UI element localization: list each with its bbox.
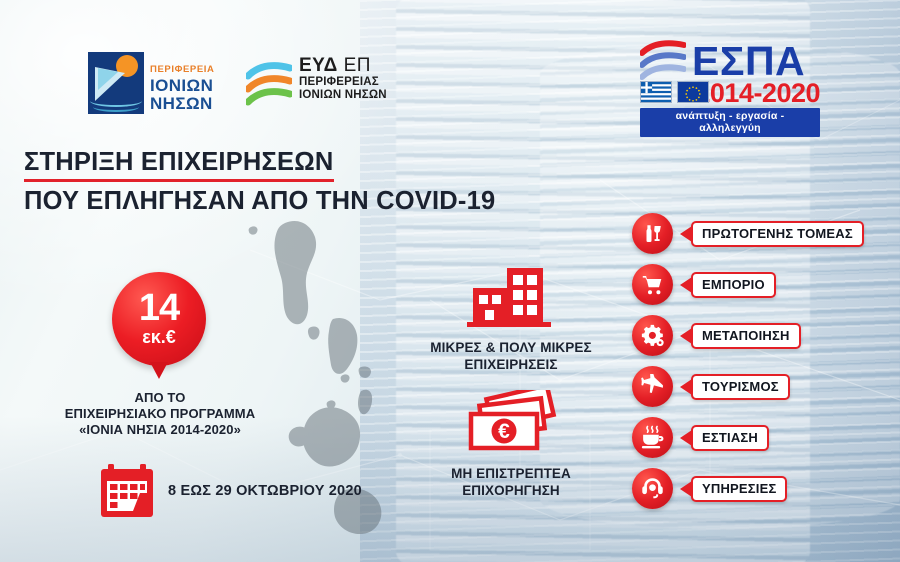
- infographic-poster: ΠΕΡΙΦΕΡΕΙΑ ΙΟΝΙΩΝ ΝΗΣΩΝ ΕΥΔ ΕΠ ΠΕΡΙΦΕΡΕΙ…: [0, 0, 900, 562]
- eyd-logo-line2: ΠΕΡΙΦΕΡΕΙΑΣ: [299, 77, 387, 89]
- region-logo-line3: ΝΗΣΩΝ: [150, 95, 214, 112]
- coffee-cup-icon: [632, 417, 673, 458]
- feature-sme-label-line2: ΕΠΙΧΕΙΡΗΣΕΙΣ: [396, 357, 626, 374]
- amount-unit: εκ.€: [142, 328, 176, 346]
- amount-block: 14 εκ.€ ΑΠΟ ΤΟ ΕΠΙΧΕΙΡΗΣΙΑΚΟ ΠΡΟΓΡΑΜΜΑ «…: [112, 272, 212, 366]
- amount-caption-line2: ΕΠΙΧΕΙΡΗΣΙΑΚΟ ΠΡΟΓΡΑΜΜΑ: [24, 406, 296, 422]
- feature-grant-icon-wrap: €: [396, 390, 626, 456]
- sector-label-manufacturing[interactable]: ΜΕΤΑΠΟΙΗΣΗ: [691, 323, 801, 349]
- espa-wordmark: ΕΣΠΑ: [692, 43, 805, 80]
- amount-caption-line1: ΑΠΟ ΤΟ: [24, 390, 296, 406]
- feature-sme-icon-wrap: [396, 264, 626, 330]
- date-text: 8 ΕΩΣ 29 ΟΚΤΩΒΡΙΟΥ 2020: [168, 483, 362, 499]
- amount-badge: 14 εκ.€: [112, 272, 206, 366]
- sector-label-tourism[interactable]: ΤΟΥΡΙΣΜΟΣ: [691, 374, 790, 400]
- espa-wordmark-row: ΕΣΠΑ: [640, 40, 820, 82]
- bottle-glass-icon: [632, 213, 673, 254]
- eu-flag-icon: [677, 81, 709, 103]
- wave-secondary-icon: [93, 102, 139, 112]
- buildings-icon: [463, 266, 559, 330]
- eyd-ep-logo: ΕΥΔ ΕΠ ΠΕΡΙΦΕΡΕΙΑΣ ΙΟΝΙΩΝ ΝΗΣΩΝ: [246, 56, 387, 108]
- feature-grant-label: ΜΗ ΕΠΙΣΤΡΕΠΤΕΑ ΕΠΙΧΟΡΗΓΗΣΗ: [396, 466, 626, 500]
- sector-item-food-service[interactable]: ΕΣΤΙΑΣΗ: [632, 416, 864, 459]
- feature-sme: ΜΙΚΡΕΣ & ΠΟΛΥ ΜΙΚΡΕΣ ΕΠΙΧΕΙΡΗΣΕΙΣ: [396, 264, 626, 374]
- eyd-logo-line1-bold: ΕΥΔ: [299, 55, 338, 76]
- feature-grant: € ΜΗ ΕΠΙΣΤΡΕΠΤΕΑ ΕΠΙΧΟΡΗΓΗΣΗ: [396, 390, 626, 500]
- region-logo-line1: ΠΕΡΙΦΕΡΕΙΑ: [150, 65, 214, 75]
- espa-slogan-banner: ανάπτυξη - εργασία - αλληλεγγύη: [640, 108, 820, 137]
- shopping-cart-icon: [632, 264, 673, 305]
- eyd-stripes-icon: [246, 60, 292, 108]
- sector-item-services[interactable]: ΥΠΗΡΕΣΙΕΣ: [632, 467, 864, 510]
- sail-inner-icon: [98, 68, 118, 90]
- eyd-logo-line3: ΙΟΝΙΩΝ ΝΗΣΩΝ: [299, 90, 387, 102]
- sector-item-tourism[interactable]: ΤΟΥΡΙΣΜΟΣ: [632, 365, 864, 408]
- headset-icon: [632, 468, 673, 509]
- espa-logo: ΕΣΠΑ 2014-2020: [640, 40, 820, 137]
- greek-flag-icon: [640, 81, 672, 103]
- region-logo-line2: ΙΟΝΙΩΝ: [150, 77, 214, 94]
- svg-text:€: €: [498, 420, 510, 443]
- sector-item-commerce[interactable]: ΕΜΠΟΡΙΟ: [632, 263, 864, 306]
- perifereia-ionion-nison-logo: ΠΕΡΙΦΕΡΕΙΑ ΙΟΝΙΩΝ ΝΗΣΩΝ: [88, 52, 214, 114]
- banknotes-euro-icon: €: [459, 390, 563, 456]
- amount-caption: ΑΠΟ ΤΟ ΕΠΙΧΕΙΡΗΣΙΑΚΟ ΠΡΟΓΡΑΜΜΑ «ΙΟΝΙΑ ΝΗ…: [24, 390, 296, 438]
- sector-label-primary[interactable]: ΠΡΩΤΟΓΕΝΗΣ ΤΟΜΕΑΣ: [691, 221, 864, 247]
- eyd-logo-text: ΕΥΔ ΕΠ ΠΕΡΙΦΕΡΕΙΑΣ ΙΟΝΙΩΝ ΝΗΣΩΝ: [299, 56, 387, 102]
- eyd-logo-line1-thin: ΕΠ: [344, 55, 371, 76]
- headline: ΣΤΗΡΙΞΗ ΕΠΙΧΕΙΡΗΣΕΩΝ ΠΟΥ ΕΠΛΗΓΗΣΑΝ ΑΠΟ Τ…: [24, 148, 495, 216]
- sector-item-primary[interactable]: ΠΡΩΤΟΓΕΝΗΣ ΤΟΜΕΑΣ: [632, 212, 864, 255]
- feature-grant-label-line1: ΜΗ ΕΠΙΣΤΡΕΠΤΕΑ: [396, 466, 626, 483]
- date-block: 8 ΕΩΣ 29 ΟΚΤΩΒΡΙΟΥ 2020: [98, 462, 362, 520]
- feature-sme-label: ΜΙΚΡΕΣ & ΠΟΛΥ ΜΙΚΡΕΣ ΕΠΙΧΕΙΡΗΣΕΙΣ: [396, 340, 626, 374]
- headline-line1: ΣΤΗΡΙΞΗ ΕΠΙΧΕΙΡΗΣΕΩΝ: [24, 148, 334, 182]
- airplane-icon: [632, 366, 673, 407]
- espa-stripes-icon: [640, 40, 686, 82]
- amount-caption-line3: «ΙΟΝΙΑ ΝΗΣΙΑ 2014-2020»: [24, 422, 296, 438]
- sector-item-manufacturing[interactable]: ΜΕΤΑΠΟΙΗΣΗ: [632, 314, 864, 357]
- amount-value: 14: [139, 292, 179, 325]
- region-logo-text: ΠΕΡΙΦΕΡΕΙΑ ΙΟΝΙΩΝ ΝΗΣΩΝ: [150, 52, 214, 112]
- eyd-logo-line1: ΕΥΔ ΕΠ: [299, 56, 387, 75]
- calendar-icon: [98, 462, 156, 520]
- gears-icon: [632, 315, 673, 356]
- sector-list: ΠΡΩΤΟΓΕΝΗΣ ΤΟΜΕΑΣ ΕΜΠΟΡΙΟ: [632, 212, 864, 518]
- sector-label-commerce[interactable]: ΕΜΠΟΡΙΟ: [691, 272, 776, 298]
- sector-label-services[interactable]: ΥΠΗΡΕΣΙΕΣ: [691, 476, 787, 502]
- region-emblem-icon: [88, 52, 144, 114]
- feature-sme-label-line1: ΜΙΚΡΕΣ & ΠΟΛΥ ΜΙΚΡΕΣ: [396, 340, 626, 357]
- logo-row: ΠΕΡΙΦΕΡΕΙΑ ΙΟΝΙΩΝ ΝΗΣΩΝ ΕΥΔ ΕΠ ΠΕΡΙΦΕΡΕΙ…: [0, 0, 900, 150]
- feature-grant-label-line2: ΕΠΙΧΟΡΗΓΗΣΗ: [396, 483, 626, 500]
- sector-label-food-service[interactable]: ΕΣΤΙΑΣΗ: [691, 425, 769, 451]
- headline-line2: ΠΟΥ ΕΠΛΗΓΗΣΑΝ ΑΠΟ ΤΗΝ COVID-19: [24, 186, 495, 216]
